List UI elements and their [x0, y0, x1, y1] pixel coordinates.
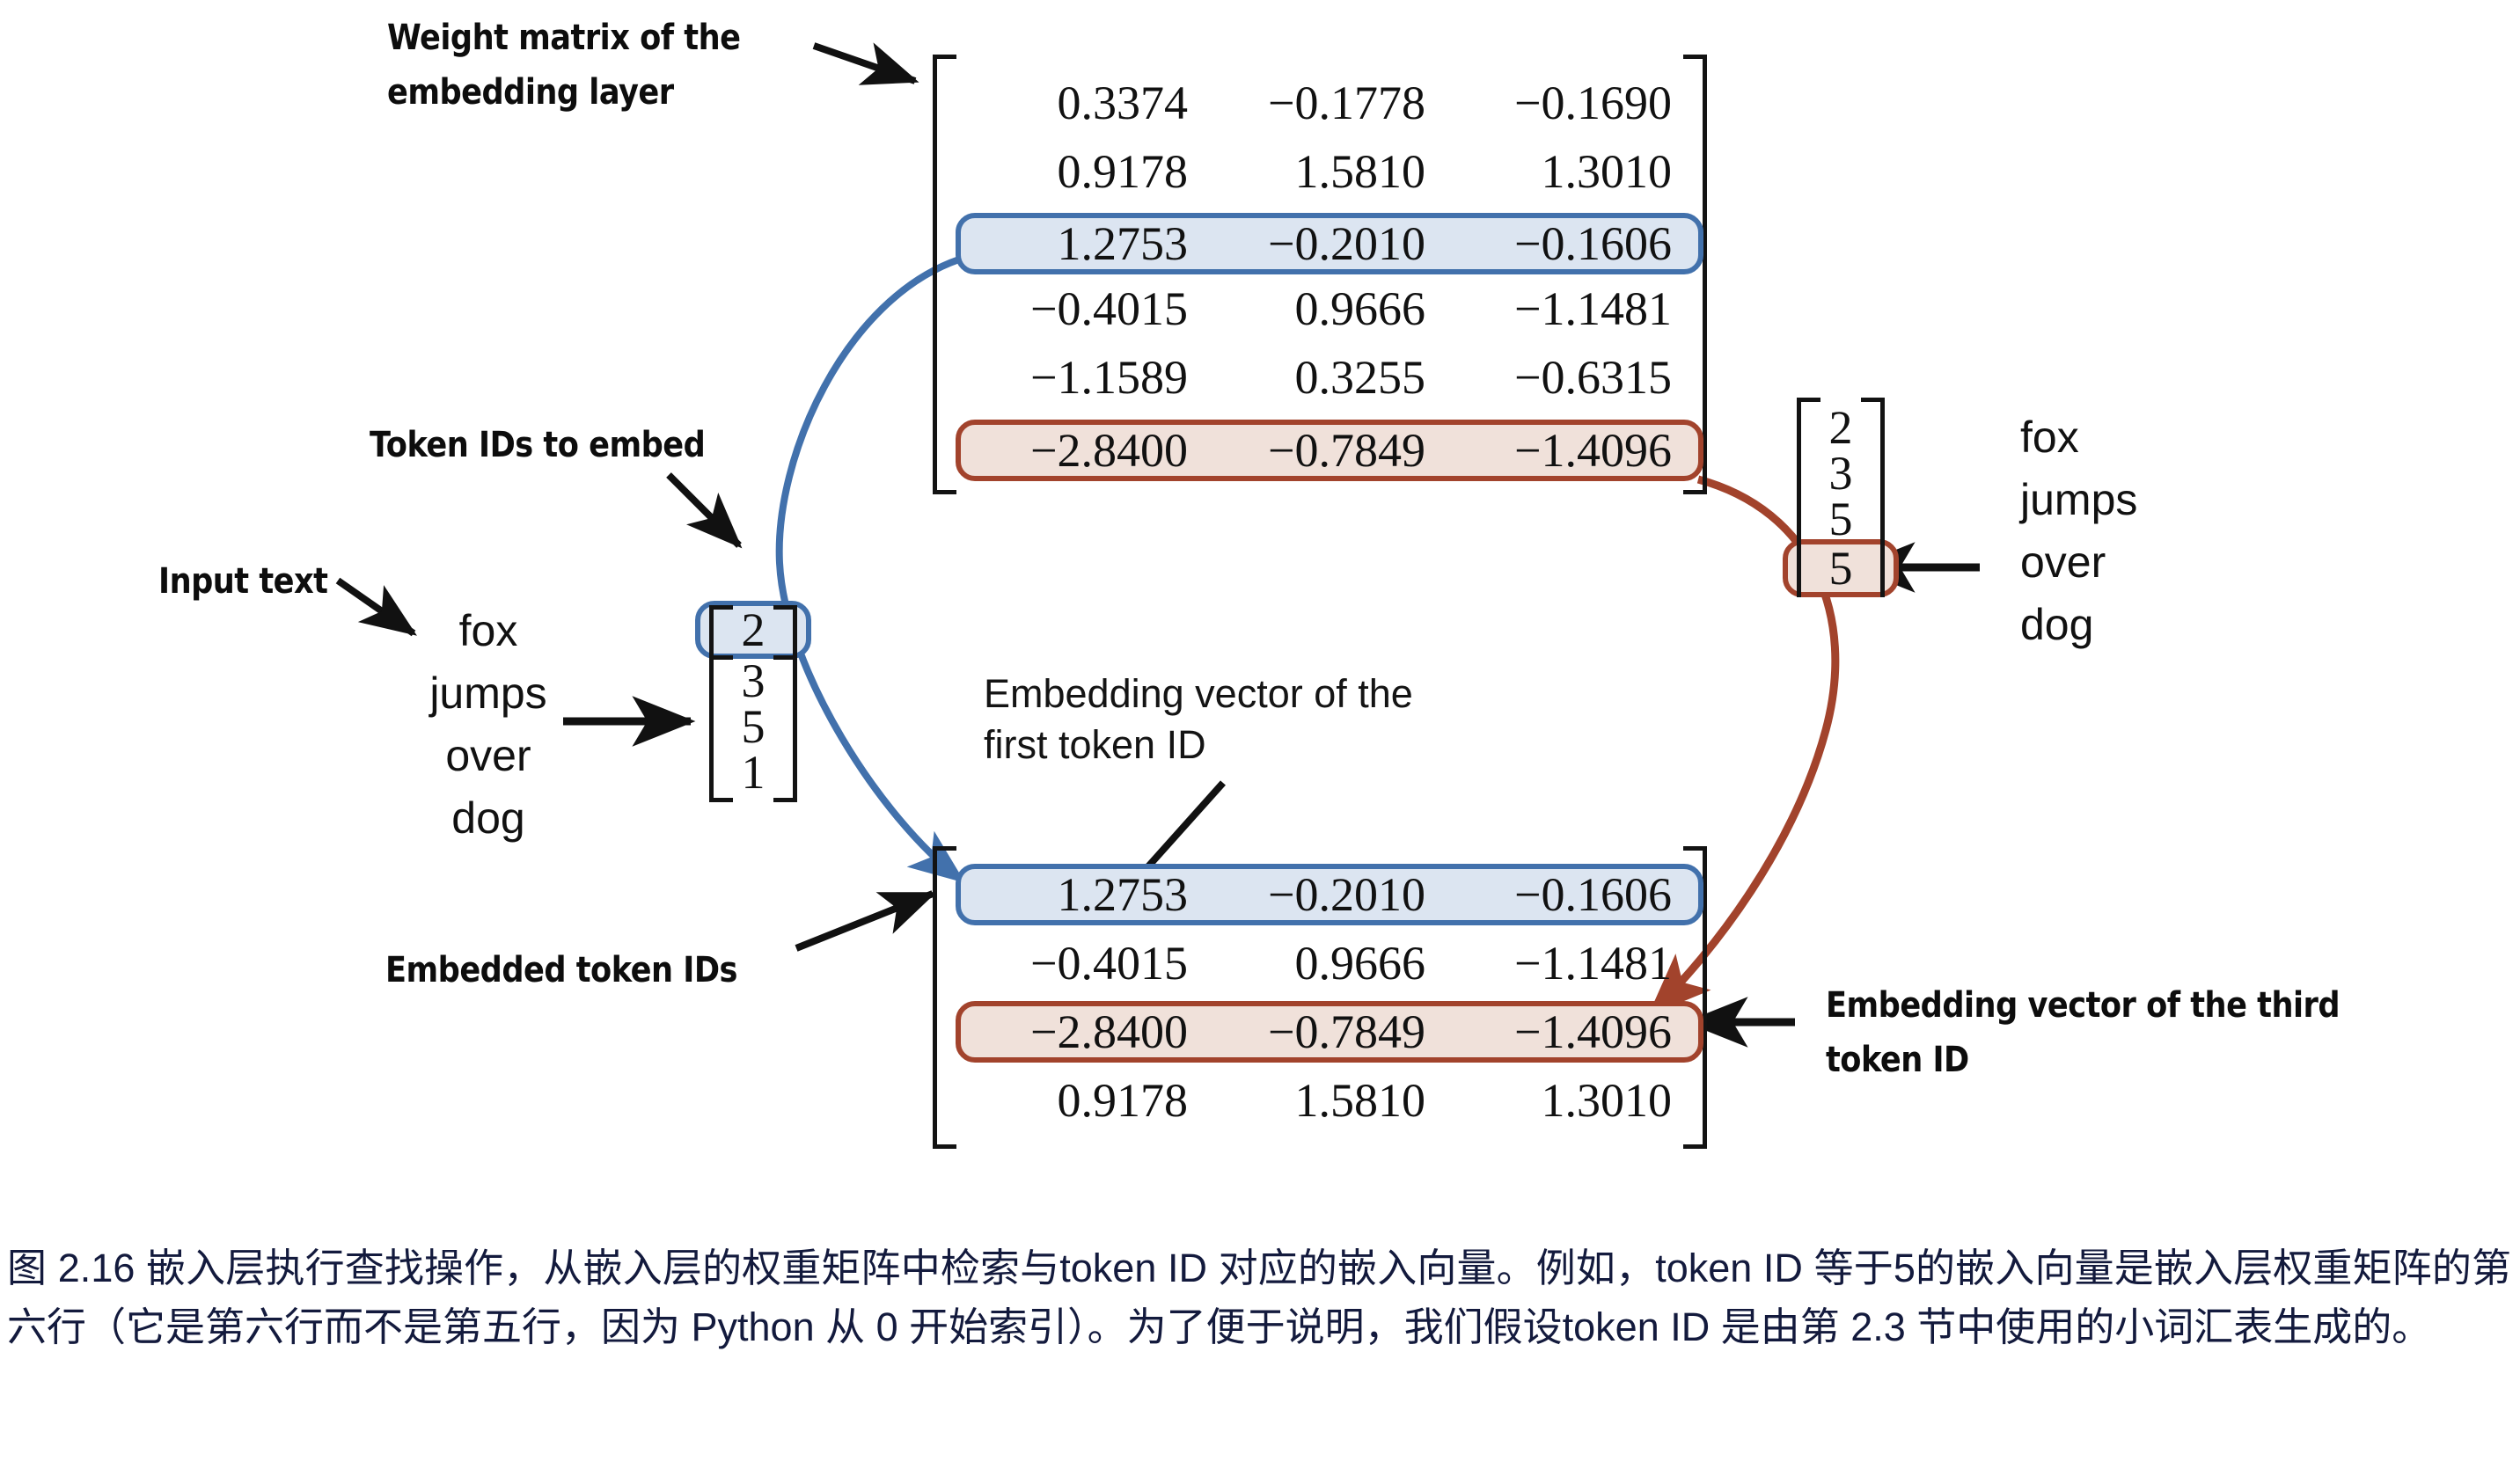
figure-caption: 图 2.16 嵌入层执行查找操作，从嵌入层的权重矩阵中检索与token ID 对…	[7, 1239, 2511, 1356]
left-bracket-seg-close	[773, 605, 797, 660]
label-token-ids-to-embed: Token IDs to embed	[370, 418, 705, 472]
label-embedding-vector-third-line1: Embedding vector of the third	[1826, 978, 2461, 1033]
figure-canvas: Weight matrix of the embedding layer Tok…	[0, 0, 2520, 1231]
weight-cell: −0.1778	[1188, 76, 1425, 130]
right-token-id-row: 2	[1797, 405, 1885, 450]
gloss-word-over: over	[2020, 531, 2137, 594]
input-word-jumps: jumps	[405, 662, 572, 725]
left-bracket-seg-open	[709, 605, 733, 660]
weight-cell: −0.6315	[1425, 350, 1672, 405]
weight-cell-hl: −0.7849	[1188, 423, 1425, 478]
gloss-word-dog: dog	[2020, 594, 2137, 656]
right-token-id-row: 5	[1797, 496, 1885, 542]
weight-cell: 0.3255	[1188, 350, 1425, 405]
right-token-vector-bracket-overlay	[1797, 539, 1885, 597]
label-weight-matrix: Weight matrix of the embedding layer	[387, 11, 883, 120]
left-token-id-row: 3	[709, 658, 797, 704]
weight-cell: 0.9666	[1188, 281, 1425, 336]
weight-cell-hl: −1.4096	[1425, 423, 1672, 478]
weight-cell-hl: −0.2010	[1188, 216, 1425, 271]
arrow-embedded-token-ids	[796, 894, 933, 948]
embedded-cell: 1.5810	[1188, 1073, 1425, 1128]
label-weight-matrix-line1: Weight matrix of the	[387, 11, 883, 65]
gloss-word-fox: fox	[2020, 406, 2137, 469]
label-embedding-vector-first-line1: Embedding vector of the	[984, 669, 1413, 720]
embedded-matrix-red-highlight-values: −2.8400 −0.7849 −1.4096	[968, 1001, 1707, 1063]
input-word-fox: fox	[405, 600, 572, 662]
weight-cell-hl: 1.2753	[968, 216, 1188, 271]
left-token-vector-bracket-overlay	[709, 605, 797, 660]
weight-matrix-row: 0.9178 1.5810 1.3010	[968, 137, 1672, 206]
label-weight-matrix-line2: embedding layer	[387, 65, 883, 120]
label-embedding-vector-third: Embedding vector of the third token ID	[1826, 978, 2461, 1087]
right-token-id-row: 3	[1797, 450, 1885, 496]
weight-cell: −0.1690	[1425, 76, 1672, 130]
embedded-cell: 0.9178	[968, 1073, 1188, 1128]
embedded-matrix-row: 0.9178 1.5810 1.3010	[968, 1066, 1672, 1135]
weight-matrix-row: −0.4015 0.9666 −1.1481	[968, 274, 1672, 343]
weight-cell: −1.1481	[1425, 281, 1672, 336]
left-token-id-row: 5	[709, 704, 797, 749]
arrow-input-text	[338, 581, 414, 633]
label-embedding-vector-third-line2: token ID	[1826, 1033, 2461, 1087]
weight-cell: 0.3374	[968, 76, 1188, 130]
embedded-cell: 1.3010	[1425, 1073, 1672, 1128]
embedded-cell-hl: −0.2010	[1188, 867, 1425, 922]
right-bracket-seg-open	[1797, 539, 1820, 597]
weight-cell: 1.5810	[1188, 144, 1425, 199]
right-bracket-seg-close	[1861, 539, 1885, 597]
weight-cell: 1.3010	[1425, 144, 1672, 199]
label-input-text-text: Input text	[158, 554, 327, 609]
embedded-cell-hl: −1.4096	[1425, 1005, 1672, 1059]
weight-cell: −1.1589	[968, 350, 1188, 405]
input-text-words: fox jumps over dog	[405, 600, 572, 850]
weight-matrix-blue-highlight-values: 1.2753 −0.2010 −0.1606	[968, 213, 1707, 274]
embedded-cell-hl: 1.2753	[968, 867, 1188, 922]
right-gloss-words: fox jumps over dog	[2020, 406, 2137, 656]
input-word-dog: dog	[405, 787, 572, 850]
embedded-cell-hl: −2.8400	[968, 1005, 1188, 1059]
label-token-ids-to-embed-text: Token IDs to embed	[370, 418, 705, 472]
weight-cell: −0.4015	[968, 281, 1188, 336]
label-input-text: Input text	[158, 554, 327, 609]
weight-cell-hl: −2.8400	[968, 423, 1188, 478]
embedded-cell: −1.1481	[1425, 936, 1672, 990]
embedded-cell: −0.4015	[968, 936, 1188, 990]
weight-cell-hl: −0.1606	[1425, 216, 1672, 271]
input-word-over: over	[405, 725, 572, 787]
weight-matrix-red-highlight-values: −2.8400 −0.7849 −1.4096	[968, 420, 1707, 481]
label-embedding-vector-first: Embedding vector of the first token ID	[984, 669, 1413, 771]
label-embedded-token-ids: Embedded token IDs	[385, 943, 737, 997]
gloss-word-jumps: jumps	[2020, 469, 2137, 531]
weight-matrix-row: 0.3374 −0.1778 −0.1690	[968, 69, 1672, 137]
label-embedded-token-ids-text: Embedded token IDs	[385, 943, 737, 997]
weight-matrix-row: −1.1589 0.3255 −0.6315	[968, 343, 1672, 412]
embedded-matrix-blue-highlight-values: 1.2753 −0.2010 −0.1606	[968, 864, 1707, 925]
left-token-id-row: 1	[709, 749, 797, 795]
arrow-token-ids-to-embed	[669, 475, 739, 545]
embedded-cell-hl: −0.7849	[1188, 1005, 1425, 1059]
embedded-matrix-row: −0.4015 0.9666 −1.1481	[968, 929, 1672, 997]
weight-cell: 0.9178	[968, 144, 1188, 199]
label-embedding-vector-first-line2: first token ID	[984, 720, 1413, 771]
embedded-cell: 0.9666	[1188, 936, 1425, 990]
embedded-cell-hl: −0.1606	[1425, 867, 1672, 922]
